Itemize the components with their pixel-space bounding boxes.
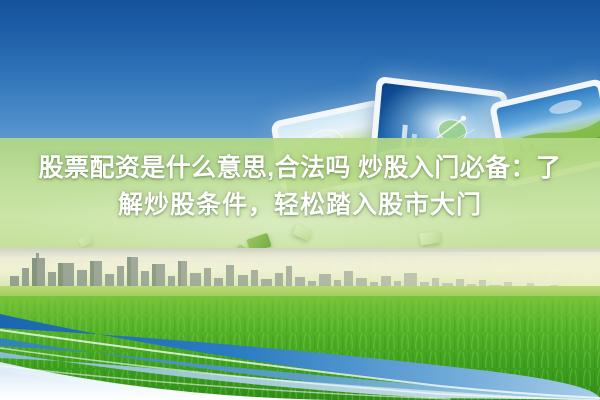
headline: 股票配资是什么意思,合法吗 炒股入门必备：了 解炒股条件，轻松踏入股市大门: [0, 150, 600, 224]
promo-banner: 股票配资是什么意思,合法吗 炒股入门必备：了 解炒股条件，轻松踏入股市大门: [0, 0, 600, 400]
headline-line-1: 股票配资是什么意思,合法吗 炒股入门必备：了: [0, 150, 600, 187]
blue-swoosh-ribbons: [0, 300, 600, 400]
headline-line-2: 解炒股条件，轻松踏入股市大门: [0, 187, 600, 224]
